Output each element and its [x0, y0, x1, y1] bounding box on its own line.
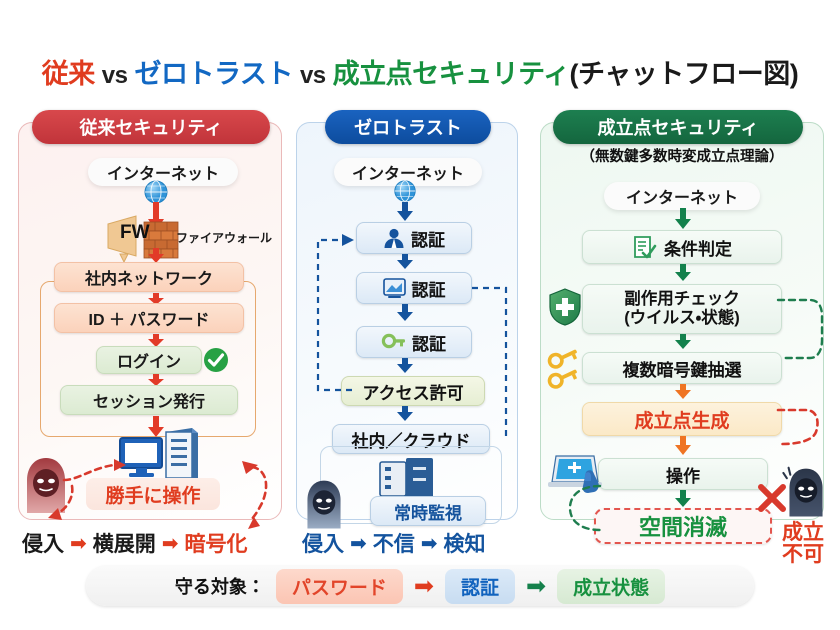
arrow-condition-to-sideeffect: [673, 264, 693, 282]
title-vs-2: vs: [300, 62, 326, 89]
box-operation[interactable]: 操作: [598, 458, 768, 490]
box-condition-judgement[interactable]: 条件判定: [582, 230, 782, 264]
chip-authentication[interactable]: 認証: [445, 569, 515, 604]
box-space-vanish[interactable]: 空間消滅: [594, 508, 772, 544]
dashed-loop-reverify-left: [306, 228, 364, 398]
box-auth-key[interactable]: 認証: [356, 326, 472, 358]
key-icon: [382, 332, 406, 352]
box-condition-label: 条件判定: [664, 235, 732, 260]
column-header-zerotrust: ゼロトラスト: [325, 110, 491, 144]
arrow-sideeffect-to-keydraw: [673, 334, 693, 350]
check-icon: [203, 347, 229, 373]
firewall-fw-label: FW: [120, 222, 150, 244]
firewall-label: ファイアウォール: [176, 229, 272, 246]
shield-icon: [548, 287, 582, 327]
title-vs-1: vs: [102, 62, 128, 89]
chip-seiritsu-state[interactable]: 成立状態: [557, 569, 665, 604]
box-auth-key-label: 認証: [412, 330, 446, 355]
arrow-internet-to-condition: [673, 208, 693, 230]
box-side-effect-label: 副作用チェック: [624, 290, 740, 309]
flow-arrow-icon: ➡: [70, 531, 87, 556]
chip-password[interactable]: パスワード: [276, 569, 403, 604]
blocked-label-line2: 不可: [782, 538, 824, 568]
arrow-internet-to-auth1: [395, 202, 415, 222]
column-header-traditional: 従来セキュリティ: [32, 110, 270, 144]
box-auth-device-label: 認証: [412, 276, 446, 301]
box-auth-user-label: 認証: [411, 226, 445, 251]
box-multi-key-lottery[interactable]: 複数暗号鍵抽選: [582, 352, 782, 384]
flow-arrow-icon: ➡: [421, 531, 438, 556]
flow-step-2: 暗号化: [185, 528, 248, 558]
dashed-loop-regenerate: [552, 480, 608, 542]
arrow-auth1-to-auth2: [395, 254, 415, 270]
box-auth-user[interactable]: 認証: [356, 222, 472, 254]
diagram-canvas: 従来 vs ゼロトラスト vs 成立点セキュリティ(チャットフロー図) 従来セキ…: [0, 0, 840, 630]
box-session-issue[interactable]: セッション発行: [60, 385, 238, 415]
server-icon: [379, 456, 435, 500]
title-part-seiritsuten: 成立点セキュリティ: [333, 59, 570, 89]
box-side-effect-check[interactable]: 副作用チェック (ウイルス・状態): [582, 284, 782, 334]
title-part-traditional: 従来: [42, 59, 95, 89]
flow-step-1: 不信: [373, 528, 415, 558]
dashed-loop-attack-down: [44, 484, 86, 526]
monitor-icon: [383, 278, 406, 299]
column-header-seiritsuten: 成立点セキュリティ: [553, 110, 803, 144]
flow-zerotrust-attack: 侵入 ➡ 不信 ➡ 検知: [302, 528, 486, 558]
hacker-icon: [782, 466, 830, 520]
page-title: 従来 vs ゼロトラスト vs 成立点セキュリティ(チャットフロー図): [0, 52, 840, 91]
label-arbitrary-operation: 勝手に操作: [86, 478, 220, 510]
flow-step-0: 侵入: [302, 528, 344, 558]
cloud-internet-right: インターネット: [604, 182, 760, 210]
box-internal-network[interactable]: 社内ネットワーク: [54, 262, 244, 292]
flow-traditional-attack: 侵入 ➡ 横展開 ➡ 暗号化: [22, 528, 248, 558]
title-part-zerotrust: ゼロトラスト: [134, 59, 292, 89]
checklist-icon: [632, 235, 656, 259]
bottom-arrow-green-icon: ➡: [526, 572, 546, 601]
bottom-summary-bar: 守る対象： パスワード ➡ 認証 ➡ 成立状態: [86, 566, 754, 606]
dashed-loop-reverify-right: [470, 286, 518, 444]
keys-icon: [546, 348, 584, 396]
flow-arrow-icon: ➡: [350, 531, 367, 556]
box-seiritsuten-generation[interactable]: 成立点生成: [582, 402, 782, 436]
bottom-arrow-red-icon: ➡: [414, 572, 434, 601]
flow-step-0: 侵入: [22, 528, 64, 558]
title-suffix: (チャットフロー図): [570, 59, 799, 89]
flow-step-2: 検知: [444, 528, 486, 558]
user-icon: [383, 227, 405, 249]
bottom-bar-label: 守る対象：: [175, 573, 265, 599]
flow-step-1: 横展開: [93, 528, 156, 558]
box-id-password[interactable]: ID ＋ パスワード: [54, 303, 244, 333]
arrow-operation-to-vanish: [673, 490, 693, 508]
arrow-auth2-to-auth3: [395, 304, 415, 322]
dashed-loop-recheck: [776, 296, 832, 376]
dashed-loop-blocked: [776, 406, 830, 472]
arrow-access-to-cloud: [395, 406, 415, 422]
seiritsuten-subtitle: （無数鍵多数時変成立点理論）: [540, 145, 824, 166]
flow-arrow-icon: ➡: [162, 531, 179, 556]
hacker-icon: [300, 478, 348, 532]
box-side-effect-sublabel: (ウイルス・状態): [624, 309, 740, 328]
box-login[interactable]: ログイン: [96, 346, 202, 374]
globe-icon: [392, 178, 418, 204]
arrow-keydraw-to-generation: [673, 384, 693, 400]
arrow-auth3-to-access: [395, 358, 415, 374]
arrow-generation-to-operation: [673, 436, 693, 456]
box-auth-device[interactable]: 認証: [356, 272, 472, 304]
box-continuous-monitoring[interactable]: 常時監視: [370, 496, 486, 526]
